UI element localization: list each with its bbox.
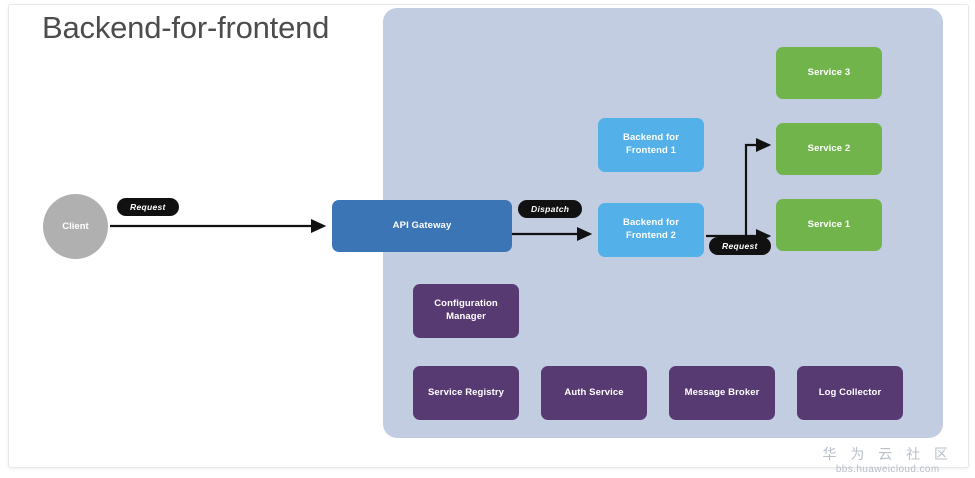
node-message-broker[interactable]: Message Broker	[669, 366, 775, 420]
watermark: 华 为 云 社 区 bbs.huaweicloud.com	[822, 445, 953, 476]
node-backend-for-frontend-2[interactable]: Backend for Frontend 2	[598, 203, 704, 257]
node-log-collector[interactable]: Log Collector	[797, 366, 903, 420]
node-service-1[interactable]: Service 1	[776, 199, 882, 251]
node-service-2[interactable]: Service 2	[776, 123, 882, 175]
watermark-brand: 华 为 云 社 区	[822, 445, 953, 463]
edge-label-dispatch: Dispatch	[518, 200, 582, 218]
edge-label-request-client: Request	[117, 198, 179, 216]
node-service-3[interactable]: Service 3	[776, 47, 882, 99]
node-configuration-manager[interactable]: Configuration Manager	[413, 284, 519, 338]
page-title: Backend-for-frontend	[42, 10, 329, 46]
node-backend-for-frontend-1[interactable]: Backend for Frontend 1	[598, 118, 704, 172]
node-client[interactable]: Client	[43, 194, 108, 259]
edge-label-request-services: Request	[709, 237, 771, 255]
diagram-canvas: Backend-for-frontend Client API Gateway …	[0, 0, 975, 478]
node-api-gateway[interactable]: API Gateway	[332, 200, 512, 252]
watermark-url: bbs.huaweicloud.com	[822, 463, 953, 476]
node-service-registry[interactable]: Service Registry	[413, 366, 519, 420]
node-auth-service[interactable]: Auth Service	[541, 366, 647, 420]
